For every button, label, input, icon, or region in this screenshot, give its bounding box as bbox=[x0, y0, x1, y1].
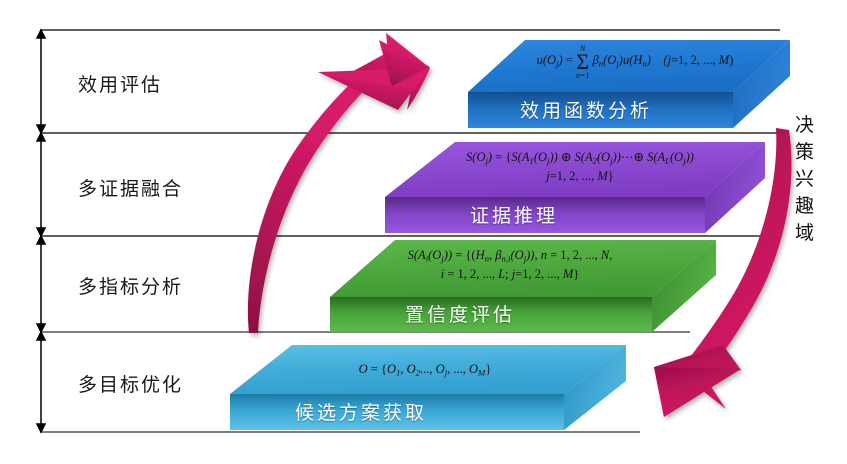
formula-layer-1: u(Oj) = NΣn=1 βn(Oj)u(Hn) (j=1, 2, ..., … bbox=[470, 44, 800, 79]
formula-layer-3: S(Ai(Oj)) = {(Hn, βn,i(Oj)), n = 1, 2, .… bbox=[340, 246, 680, 283]
layer-caption-1: 效用函数分析 bbox=[520, 96, 652, 123]
layer-caption-3: 置信度评估 bbox=[405, 300, 515, 327]
stage-label-4: 多目标优化 bbox=[78, 370, 183, 397]
stage-label-2: 多证据融合 bbox=[78, 174, 183, 201]
diagram-canvas: 效用评估 多证据融合 多指标分析 多目标优化 u(Oj) = NΣn=1 βn(… bbox=[0, 0, 847, 464]
layer-caption-2: 证据推理 bbox=[470, 201, 558, 228]
formula-layer-4: O = {O1, O2..., Oj, ..., OM} bbox=[290, 360, 560, 379]
layer-caption-4: 候选方案获取 bbox=[295, 398, 427, 425]
decision-interest-domain-label: 决策兴趣域 bbox=[795, 113, 814, 248]
formula-layer-2: S(Oj) = {S(A1(Oj)) ⊕ S(A2(Oj))⋯⊕ S(AL(Oj… bbox=[400, 148, 760, 185]
stage-label-3: 多指标分析 bbox=[78, 272, 183, 299]
layer-slab-4 bbox=[230, 345, 626, 430]
stage-label-1: 效用评估 bbox=[78, 70, 162, 97]
